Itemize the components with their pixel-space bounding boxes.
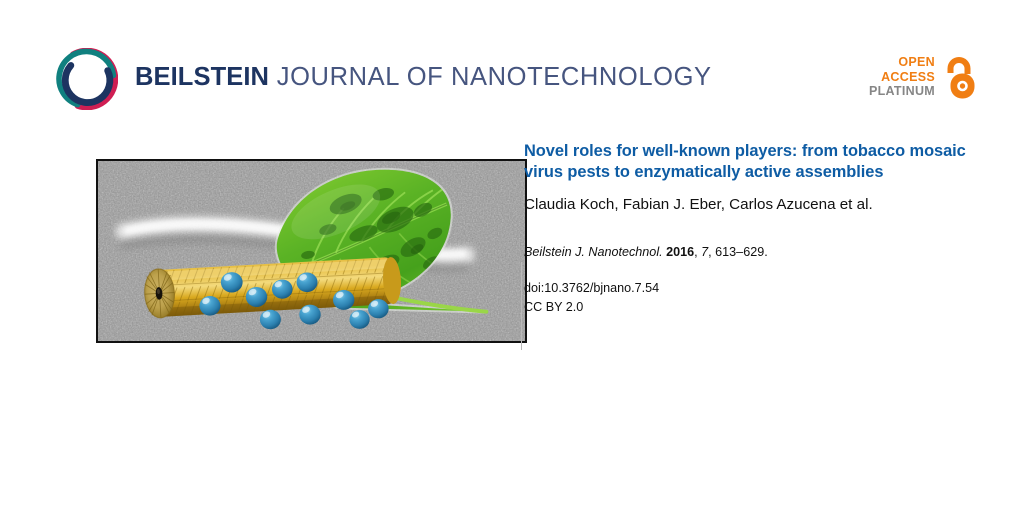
graphical-abstract-figure[interactable] — [96, 159, 527, 343]
article-license[interactable]: CC BY 2.0 — [524, 298, 976, 317]
citation-year: 2016 — [666, 245, 694, 259]
open-access-line-access: ACCESS — [869, 70, 935, 85]
open-access-line-open: OPEN — [869, 55, 935, 70]
article-citation: Beilstein J. Nanotechnol. 2016, 7, 613–6… — [524, 244, 976, 261]
article-summary: Novel roles for well-known players: from… — [524, 141, 976, 317]
journal-wordmark: BEILSTEIN JOURNAL OF NANOTECHNOLOGY — [135, 65, 712, 93]
citation-pages: 613–629 — [715, 245, 764, 259]
masthead: BEILSTEIN JOURNAL OF NANOTECHNOLOGY OPEN… — [0, 0, 1024, 130]
beilstein-spiral-logo-icon — [56, 48, 118, 110]
open-access-label: OPEN ACCESS PLATINUM — [869, 55, 935, 99]
open-access-badge[interactable]: OPEN ACCESS PLATINUM — [869, 55, 976, 99]
citation-journal: Beilstein J. Nanotechnol. — [524, 245, 663, 259]
graphical-abstract-image — [98, 161, 525, 341]
wordmark-journal-of-nanotechnology: JOURNAL OF NANOTECHNOLOGY — [269, 63, 712, 91]
journal-brand[interactable]: BEILSTEIN JOURNAL OF NANOTECHNOLOGY — [56, 48, 712, 110]
article-title[interactable]: Novel roles for well-known players: from… — [524, 141, 976, 184]
open-access-line-platinum: PLATINUM — [869, 84, 935, 99]
wordmark-beilstein: BEILSTEIN — [135, 63, 269, 91]
text-column-rule — [521, 262, 522, 350]
article-authors: Claudia Koch, Fabian J. Eber, Carlos Azu… — [524, 195, 976, 215]
open-lock-icon — [942, 55, 976, 99]
article-doi[interactable]: doi:10.3762/bjnano.7.54 — [524, 279, 976, 298]
citation-terminator: . — [764, 245, 768, 259]
